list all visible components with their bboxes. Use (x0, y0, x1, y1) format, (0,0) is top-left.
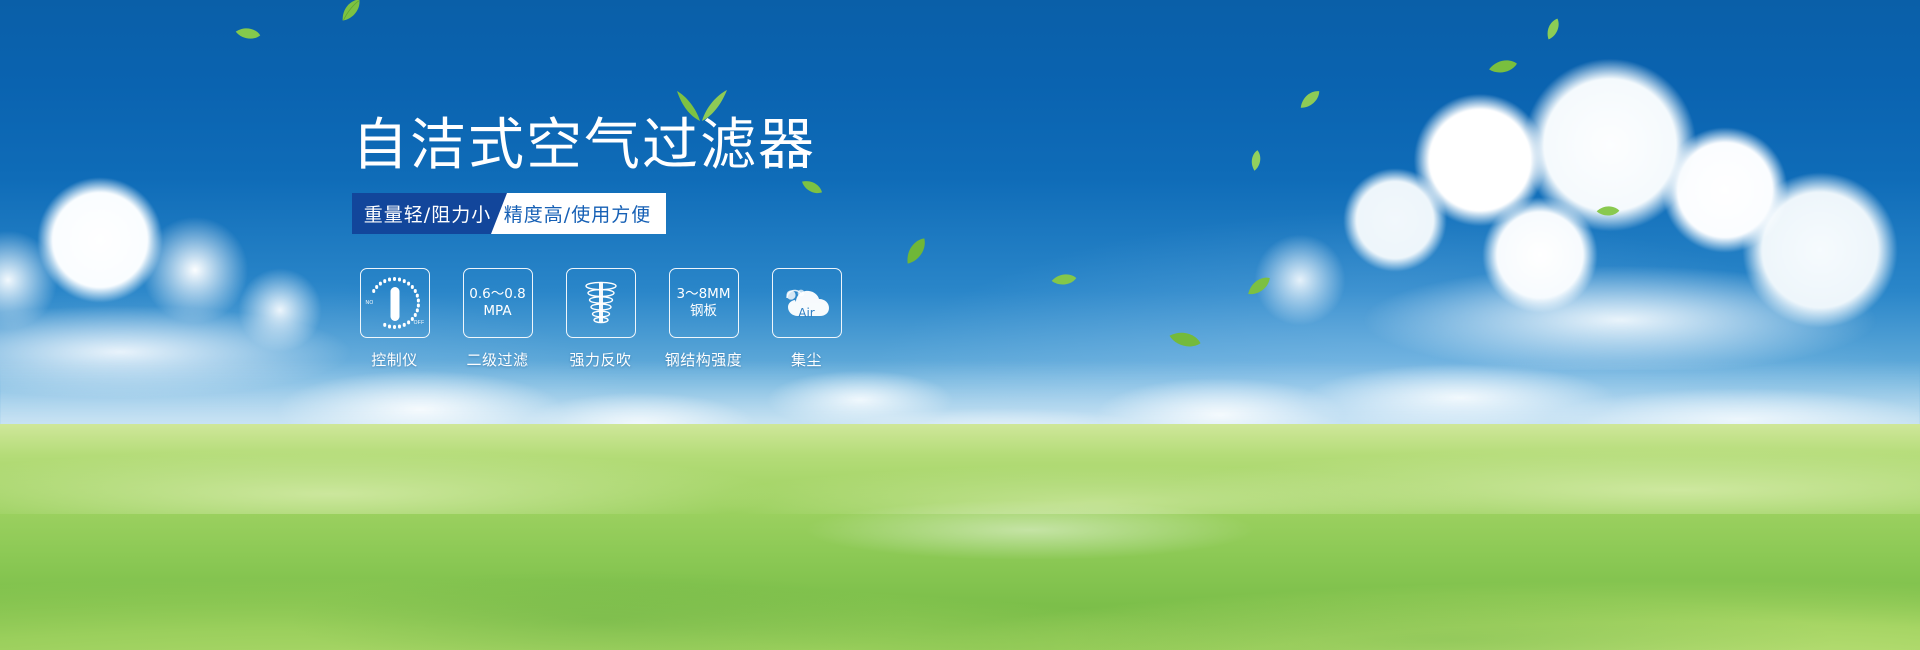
hero-banner: 自洁式空气过滤器 重量轻/阻力小 精度高/使用方便 (0, 0, 1920, 650)
feature-box-text-line2: 钢板 (690, 303, 717, 320)
feature-tabs: 重量轻/阻力小 精度高/使用方便 (352, 193, 666, 234)
feature-box-text-line1: 0.6～0.8 (469, 286, 525, 303)
tab-precision[interactable]: 精度高/使用方便 (491, 193, 666, 234)
feature-box: 3～8MM 钢板 (669, 268, 739, 338)
feature-item-controller[interactable]: NO OFF 控制仪 (356, 268, 433, 370)
feature-box: Air (772, 268, 842, 338)
feature-box (566, 268, 636, 338)
feature-label: 二级过滤 (466, 349, 528, 370)
tab-lightweight[interactable]: 重量轻/阻力小 (352, 193, 507, 234)
page-title: 自洁式空气过滤器 (352, 118, 816, 174)
feature-icon-list: NO OFF 控制仪 0.6～0.8 MPA 二级过滤 (356, 268, 845, 370)
feature-box-text-line2: MPA (483, 303, 511, 320)
feature-box: 0.6～0.8 MPA (463, 268, 533, 338)
gauge-label-off: OFF (414, 320, 425, 326)
feature-label: 强力反吹 (569, 349, 631, 370)
gauge-icon: NO OFF (367, 275, 423, 331)
feature-box: NO OFF (360, 268, 430, 338)
feature-item-filtration[interactable]: 0.6～0.8 MPA 二级过滤 (459, 268, 536, 370)
feature-label: 控制仪 (371, 349, 418, 370)
feature-label: 集尘 (791, 349, 822, 370)
feature-box-text-line1: 3～8MM (677, 286, 731, 303)
feature-item-dust-collection[interactable]: Air 集尘 (768, 268, 845, 370)
coil-icon (575, 277, 627, 329)
feature-box-text-air: Air (798, 306, 814, 321)
feature-item-backflush[interactable]: 强力反吹 (562, 268, 639, 370)
feature-label: 钢结构强度 (665, 349, 743, 370)
gauge-label-no: NO (366, 300, 374, 306)
gauge-needle (390, 287, 399, 321)
feature-item-steel-strength[interactable]: 3～8MM 钢板 钢结构强度 (665, 268, 742, 370)
banner-content: 自洁式空气过滤器 重量轻/阻力小 精度高/使用方便 (0, 0, 1920, 650)
